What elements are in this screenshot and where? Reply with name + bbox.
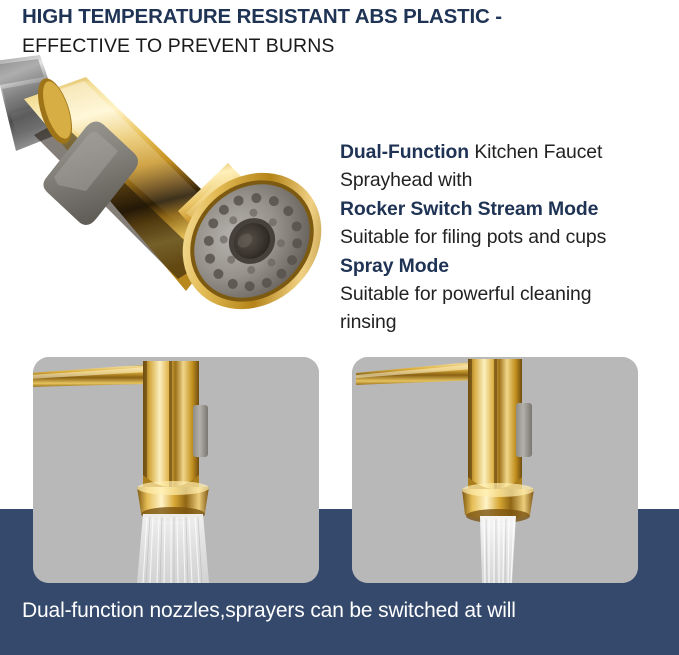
water-stream [137,514,209,583]
feature-line-7: rinsing [340,308,670,336]
faucet-sprayhead-illustration [0,55,330,350]
page-title: HIGH TEMPERATURE RESISTANT ABS PLASTIC - [22,4,667,30]
feature-line-4: Suitable for filing pots and cups [340,223,670,251]
feature-line-2: Sprayhead with [340,166,670,194]
faucet-sprayhead-photo [0,55,330,350]
feature-line-5: Spray Mode [340,252,670,280]
feature-line-1-bold: Dual-Function [340,141,469,163]
stream-mode-illustration [33,357,319,583]
feature-text-block: Dual-Function Kitchen Faucet Sprayhead w… [340,138,670,337]
rocker-switch-button[interactable] [516,403,532,457]
spray-mode-illustration [352,357,638,583]
stream-mode-photo [33,357,319,583]
sprayhead-body [143,361,199,489]
header-block: HIGH TEMPERATURE RESISTANT ABS PLASTIC -… [22,4,667,60]
water-stream [480,516,516,583]
bottom-caption: Dual-function nozzles,sprayers can be sw… [22,599,662,623]
feature-line-3: Rocker Switch Stream Mode [340,195,670,223]
feature-line-1: Dual-Function Kitchen Faucet [340,138,670,166]
rocker-switch-button[interactable] [193,405,208,457]
sprayhead-body [468,359,522,491]
feature-line-1-rest: Kitchen Faucet [469,141,602,163]
spray-mode-photo [352,357,638,583]
feature-line-6: Suitable for powerful cleaning [340,280,670,308]
